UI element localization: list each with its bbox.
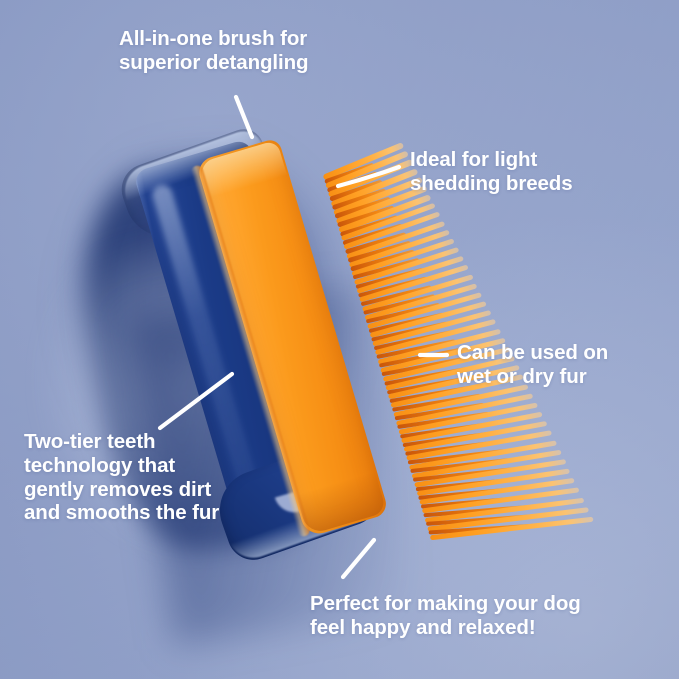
- callout-line: feel happy and relaxed!: [310, 616, 581, 640]
- callout-line: shedding breeds: [410, 172, 573, 196]
- leader-happy-relaxed: [343, 540, 374, 577]
- callout-line: Two-tier teeth: [24, 430, 219, 454]
- callout-line: Ideal for light: [410, 148, 573, 172]
- callout-happy-relaxed: Perfect for making your dogfeel happy an…: [310, 592, 581, 640]
- leader-all-in-one: [236, 97, 252, 137]
- callout-line: technology that: [24, 454, 219, 478]
- callout-line: superior detangling: [119, 51, 308, 75]
- callout-line: All-in-one brush for: [119, 27, 308, 51]
- leader-light-shedding: [338, 167, 399, 186]
- callout-line: Perfect for making your dog: [310, 592, 581, 616]
- callout-wet-or-dry: Can be used onwet or dry fur: [457, 341, 608, 389]
- callout-line: Can be used on: [457, 341, 608, 365]
- callout-two-tier-teeth: Two-tier teethtechnology thatgently remo…: [24, 430, 219, 525]
- leader-two-tier: [160, 374, 232, 428]
- callout-line: gently removes dirt: [24, 478, 219, 502]
- callout-line: and smooths the fur: [24, 501, 219, 525]
- infographic-canvas: All-in-one brush forsuperior detangling …: [0, 0, 679, 679]
- callout-line: wet or dry fur: [457, 365, 608, 389]
- callout-leader-lines: [0, 0, 679, 679]
- callout-light-shedding: Ideal for lightshedding breeds: [410, 148, 573, 196]
- callout-all-in-one: All-in-one brush forsuperior detangling: [119, 27, 308, 75]
